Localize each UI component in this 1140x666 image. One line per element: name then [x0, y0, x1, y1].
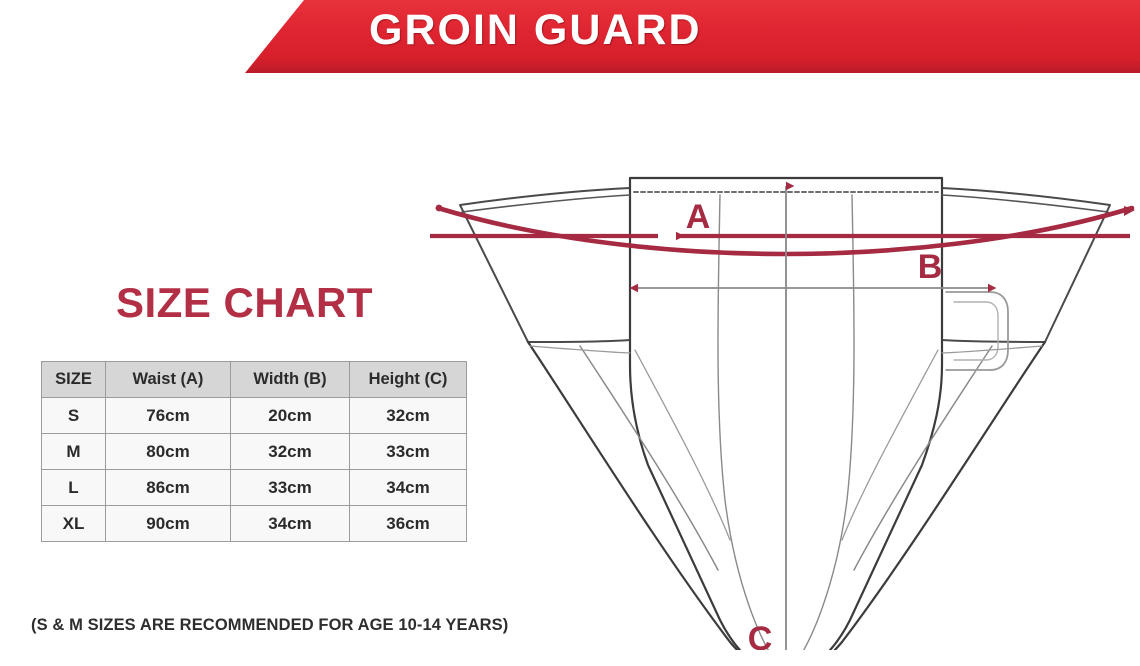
measure-label-b: B: [918, 248, 943, 286]
size-chart-heading: SIZE CHART: [116, 279, 373, 327]
cell-width: 33cm: [231, 470, 350, 506]
size-table: SIZE Waist (A) Width (B) Height (C) S 76…: [41, 361, 467, 542]
waist-measure-line-a: [438, 208, 1132, 254]
cell-size: L: [42, 470, 106, 506]
column-header-width: Width (B): [231, 362, 350, 398]
column-header-waist: Waist (A): [106, 362, 231, 398]
size-chart-page: GROIN GUARD SIZE CHART SIZE Waist (A) Wi…: [0, 0, 1140, 666]
cell-width: 20cm: [231, 398, 350, 434]
table-row: S 76cm 20cm 32cm: [42, 398, 467, 434]
table-row: L 86cm 33cm 34cm: [42, 470, 467, 506]
cell-waist: 80cm: [106, 434, 231, 470]
measure-label-c: C: [748, 620, 773, 650]
cell-waist: 86cm: [106, 470, 231, 506]
right-leg-strap-seam: [842, 350, 938, 540]
right-leg-strap-inner: [854, 346, 992, 570]
cell-size: XL: [42, 506, 106, 542]
measurement-annotations: A B C: [430, 186, 1135, 650]
header-banner: GROIN GUARD: [245, 0, 1140, 73]
right-waistband-seam: [942, 195, 1108, 212]
cell-waist: 90cm: [106, 506, 231, 542]
measure-label-a: A: [686, 198, 711, 236]
page-title: GROIN GUARD: [369, 6, 702, 55]
left-cup-seam: [718, 195, 782, 650]
left-hip-panel: [460, 188, 630, 342]
garment-outline: [460, 178, 1110, 650]
table-header-row: SIZE Waist (A) Width (B) Height (C): [42, 362, 467, 398]
table-row: XL 90cm 34cm 36cm: [42, 506, 467, 542]
cell-width: 32cm: [231, 434, 350, 470]
right-hip-panel: [942, 188, 1110, 342]
left-leg-strap-outer: [528, 342, 785, 650]
cell-size: M: [42, 434, 106, 470]
groin-guard-diagram: A B C: [430, 150, 1140, 650]
cell-width: 34cm: [231, 506, 350, 542]
left-leg-strap-inner: [580, 346, 718, 570]
cell-waist: 76cm: [106, 398, 231, 434]
left-leg-strap-seam: [635, 350, 730, 540]
table-row: M 80cm 32cm 33cm: [42, 434, 467, 470]
waist-line-left-cap: [436, 205, 443, 212]
right-cup-seam: [790, 195, 854, 650]
cell-size: S: [42, 398, 106, 434]
left-waistband-seam: [462, 195, 630, 212]
column-header-size: SIZE: [42, 362, 106, 398]
